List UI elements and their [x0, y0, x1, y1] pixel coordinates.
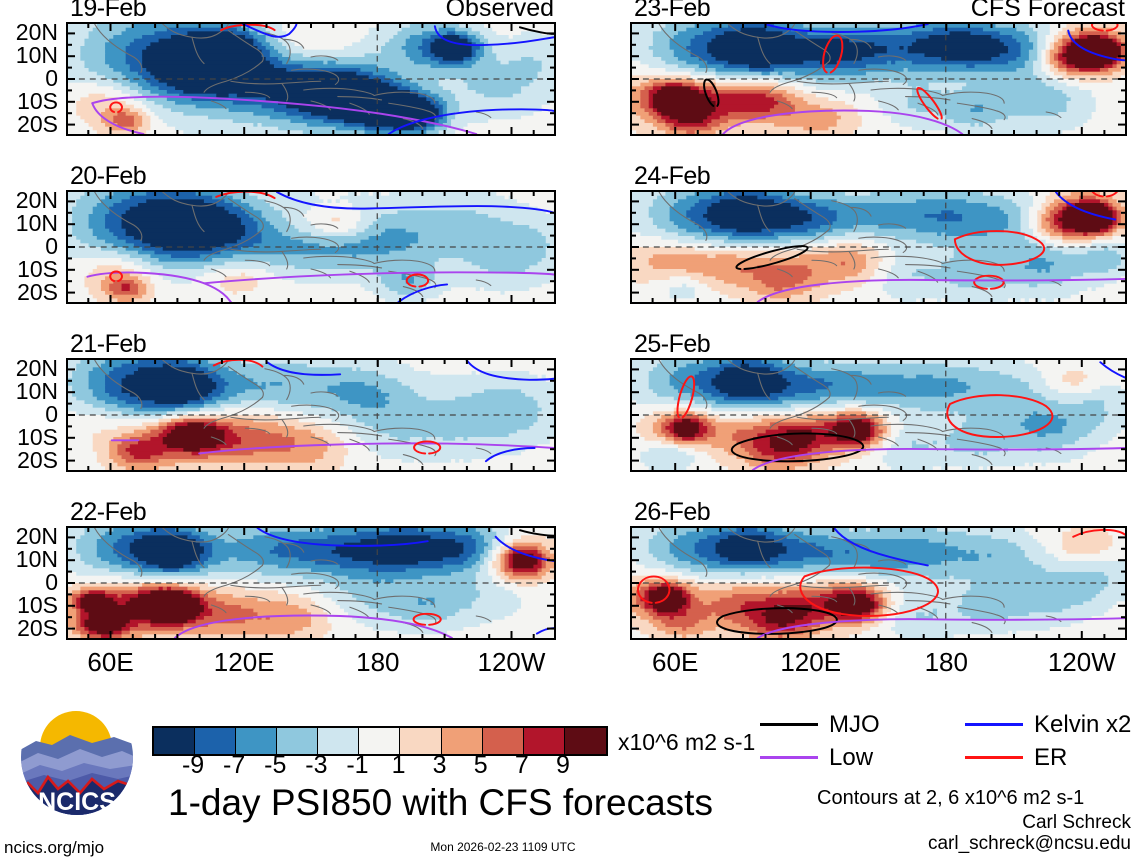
y-tick-label: 10N: [16, 44, 58, 67]
x-tick-label: 180: [356, 648, 399, 676]
wave-type-legend: MJOKelvin x2LowER: [760, 712, 1135, 772]
y-tick-label: 20S: [17, 617, 58, 640]
author-name: Carl Schreck: [1022, 812, 1131, 833]
colorbar-tick-label: -1: [346, 752, 368, 778]
colorbar-tick-label: -5: [264, 752, 286, 778]
legend-label: ER: [1034, 745, 1067, 770]
author-email: carl_schreck@ncsu.edu: [928, 833, 1131, 854]
legend-label: MJO: [829, 712, 880, 737]
map-panel-24-feb: 24-Feb: [630, 190, 1127, 304]
y-tick-label: 0: [45, 571, 58, 594]
y-axis-labels: 20N10N010S20S: [0, 190, 58, 304]
colorbar-tick-label: -3: [305, 752, 327, 778]
legend-line-swatch: [760, 756, 818, 759]
x-axis-labels: 60E120E180120W: [66, 648, 556, 678]
map-panel-21-feb: 21-Feb: [66, 358, 556, 472]
field-shading: [68, 24, 554, 134]
colorbar-tick-label: 5: [474, 752, 488, 778]
y-tick-label: 20S: [17, 113, 58, 136]
map-plot-area: [630, 358, 1127, 472]
map-panel-26-feb: 26-Feb: [630, 526, 1127, 640]
y-tick-label: 10S: [17, 258, 58, 281]
x-tick-label: 120W: [477, 648, 545, 676]
colorbar-tick-label: 3: [433, 752, 447, 778]
map-panel-19-feb: 19-FebObserved: [66, 22, 556, 136]
map-plot-area: [66, 22, 556, 136]
y-tick-label: 0: [45, 403, 58, 426]
y-tick-label: 20S: [17, 281, 58, 304]
legend-item-mjo: MJO: [760, 712, 880, 737]
y-tick-label: 10S: [17, 594, 58, 617]
map-plot-area: [66, 358, 556, 472]
y-tick-label: 0: [45, 235, 58, 258]
field-shading: [632, 24, 1125, 134]
y-tick-label: 20N: [16, 21, 58, 44]
map-plot-area: [66, 526, 556, 640]
map-plot-area: [630, 190, 1127, 304]
panel-date-label: 20-Feb: [70, 164, 146, 189]
legend-item-er: ER: [965, 745, 1067, 770]
panel-date-label: 19-Feb: [70, 0, 146, 21]
x-tick-label: 60E: [87, 648, 133, 676]
y-tick-label: 0: [45, 67, 58, 90]
render-timestamp: Mon 2026-02-23 1109 UTC: [430, 840, 575, 854]
panel-date-label: 24-Feb: [634, 164, 710, 189]
y-tick-label: 10N: [16, 548, 58, 571]
site-url-label[interactable]: ncics.org/mjo: [4, 838, 104, 857]
x-tick-label: 120W: [1048, 648, 1116, 676]
map-panel-25-feb: 25-Feb: [630, 358, 1127, 472]
x-tick-label: 180: [925, 648, 968, 676]
x-tick-label: 120E: [214, 648, 275, 676]
y-tick-label: 10S: [17, 90, 58, 113]
y-tick-label: 10N: [16, 212, 58, 235]
map-panel-20-feb: 20-Feb: [66, 190, 556, 304]
y-axis-labels: 20N10N010S20S: [0, 22, 58, 136]
x-axis-labels: 60E120E180120W: [630, 648, 1127, 678]
y-tick-label: 20S: [17, 449, 58, 472]
contours-note: Contours at 2, 6 x10^6 m2 s-1: [817, 787, 1084, 809]
panel-date-label: 25-Feb: [634, 332, 710, 357]
ncics-logo-svg: NCICS: [18, 697, 136, 823]
map-panel-23-feb: 23-FebCFS Forecast: [630, 22, 1127, 136]
map-plot-area: [630, 22, 1127, 136]
field-shading: [68, 192, 554, 302]
y-tick-label: 10N: [16, 380, 58, 403]
colorbar-tick-label: 1: [392, 752, 406, 778]
panel-date-label: 23-Feb: [634, 0, 710, 21]
y-axis-labels: 20N10N010S20S: [0, 526, 58, 640]
legend-item-low: Low: [760, 745, 873, 770]
ncics-logo: NCICS: [18, 697, 136, 823]
field-shading: [68, 360, 554, 470]
map-panel-22-feb: 22-Feb: [66, 526, 556, 640]
colorbar-tick-label: -9: [182, 752, 204, 778]
legend-line-swatch: [965, 756, 1023, 759]
legend-label: Kelvin x2: [1034, 712, 1131, 737]
legend-line-swatch: [760, 723, 818, 726]
colorbar-tick-label: 7: [515, 752, 529, 778]
colorbar-units-label: x10^6 m2 s-1: [618, 730, 755, 754]
map-plot-area: [630, 526, 1127, 640]
ncics-logo-text: NCICS: [38, 788, 116, 816]
colorbar-swatch: [565, 728, 606, 754]
legend-line-swatch: [965, 723, 1023, 726]
x-tick-label: 120E: [780, 648, 841, 676]
field-shading: [632, 192, 1125, 302]
y-tick-label: 10S: [17, 426, 58, 449]
colorbar-tick-label: -7: [223, 752, 245, 778]
column-heading: Observed: [446, 0, 554, 21]
map-plot-area: [66, 190, 556, 304]
colorbar-tick-label: 9: [556, 752, 570, 778]
y-axis-labels: 20N10N010S20S: [0, 358, 58, 472]
x-tick-label: 60E: [652, 648, 698, 676]
panel-date-label: 22-Feb: [70, 500, 146, 525]
y-tick-label: 20N: [16, 189, 58, 212]
main-title: 1-day PSI850 with CFS forecasts: [168, 783, 713, 823]
field-shading: [632, 360, 1125, 470]
y-tick-label: 20N: [16, 357, 58, 380]
field-shading: [632, 528, 1125, 638]
y-tick-label: 20N: [16, 525, 58, 548]
legend-label: Low: [829, 745, 873, 770]
panel-date-label: 26-Feb: [634, 500, 710, 525]
field-shading: [68, 528, 554, 638]
legend-item-kelvin-x2: Kelvin x2: [965, 712, 1131, 737]
column-heading: CFS Forecast: [971, 0, 1125, 21]
colorbar-tick-labels: -9-7-5-3-113579: [152, 752, 604, 780]
panel-date-label: 21-Feb: [70, 332, 146, 357]
